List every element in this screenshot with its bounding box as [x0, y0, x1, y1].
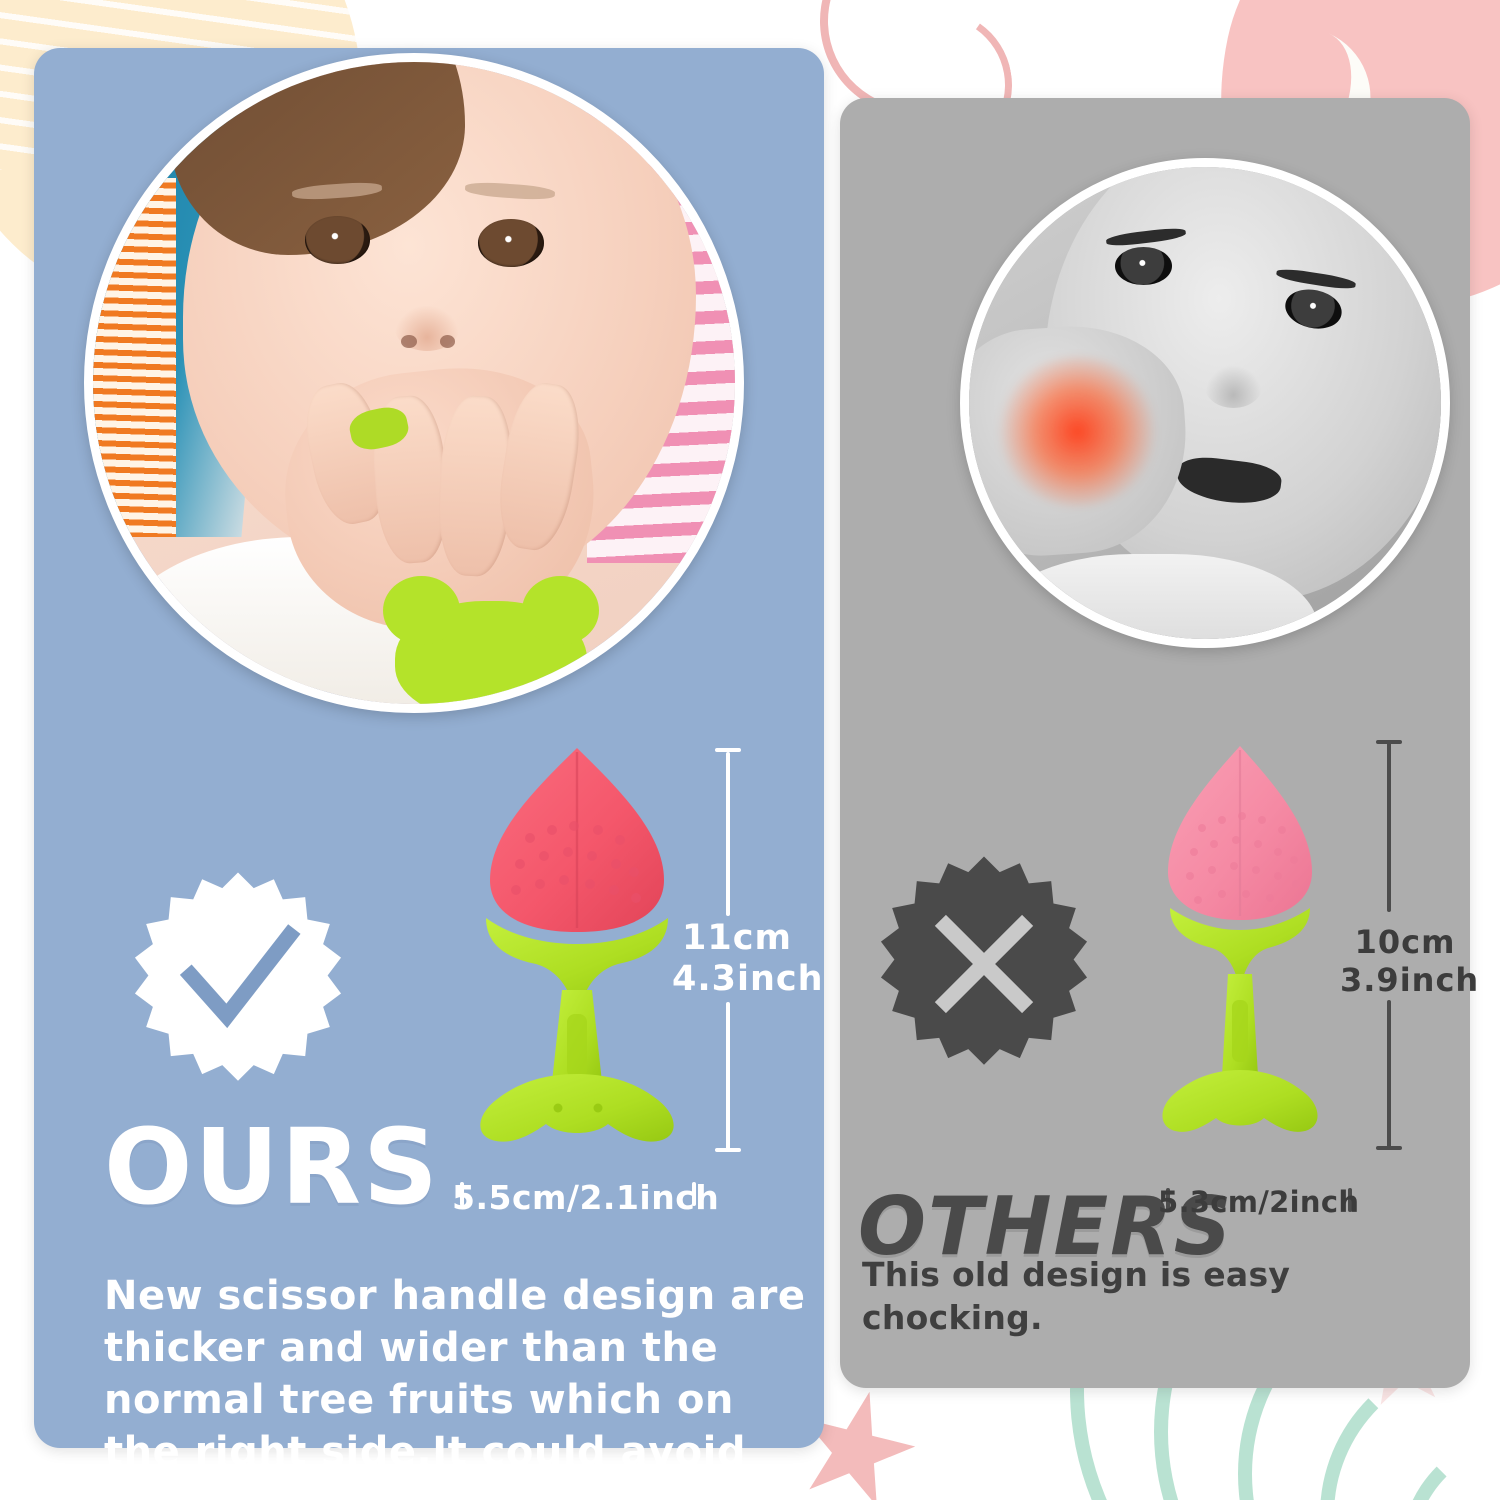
- pain-highlight-icon: [997, 356, 1157, 507]
- others-baby-photo: [960, 158, 1450, 648]
- others-height-cm: 10cm: [1340, 924, 1470, 962]
- ours-description: New scissor handle design are thicker an…: [104, 1270, 824, 1500]
- cross-badge-icon: [872, 852, 1096, 1076]
- check-badge-icon: [126, 868, 350, 1092]
- ours-width-label: 5.5cm/2.1inch: [452, 1178, 702, 1217]
- ours-height-inch: 4.3inch: [672, 959, 802, 1000]
- ours-panel: OURS New scissor handle design are thick…: [34, 48, 824, 1448]
- others-height-inch: 3.9inch: [1340, 962, 1470, 1000]
- ours-title: OURS: [104, 1106, 440, 1228]
- ours-height-cm: 11cm: [672, 918, 802, 959]
- ours-teether-product: [452, 742, 702, 1162]
- others-width-label: 5.3cm/2inch: [1158, 1185, 1358, 1219]
- ours-baby-photo: [84, 53, 744, 713]
- others-description: This old design is easy chocking.: [862, 1254, 1462, 1340]
- others-teether-product: [1140, 742, 1340, 1162]
